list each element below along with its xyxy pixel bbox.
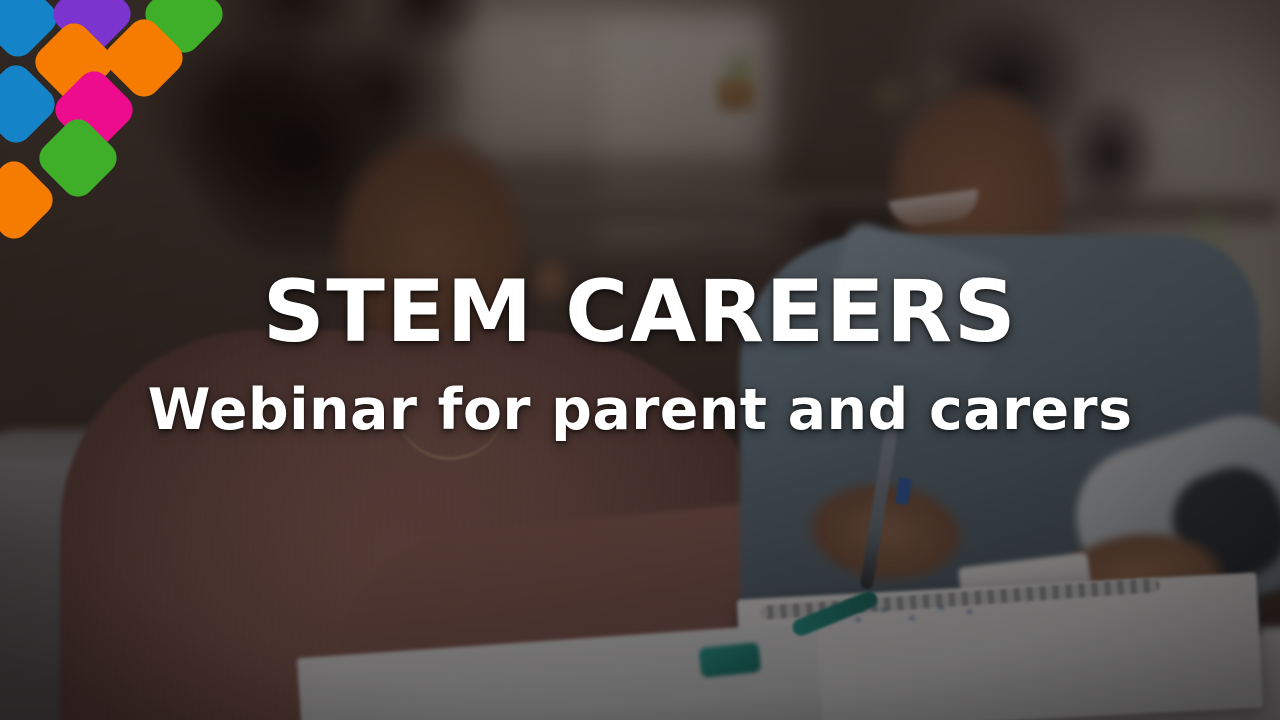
page-title: STEM CAREERS bbox=[40, 268, 1240, 357]
page-subtitle: Webinar for parent and carers bbox=[40, 379, 1240, 443]
diamond-grid-logo[interactable] bbox=[0, 0, 230, 250]
background-plant-pot bbox=[718, 80, 754, 110]
teal-eraser bbox=[699, 642, 762, 678]
slide-canvas: STEM CAREERS Webinar for parent and care… bbox=[0, 0, 1280, 720]
title-block: STEM CAREERS Webinar for parent and care… bbox=[0, 268, 1280, 443]
